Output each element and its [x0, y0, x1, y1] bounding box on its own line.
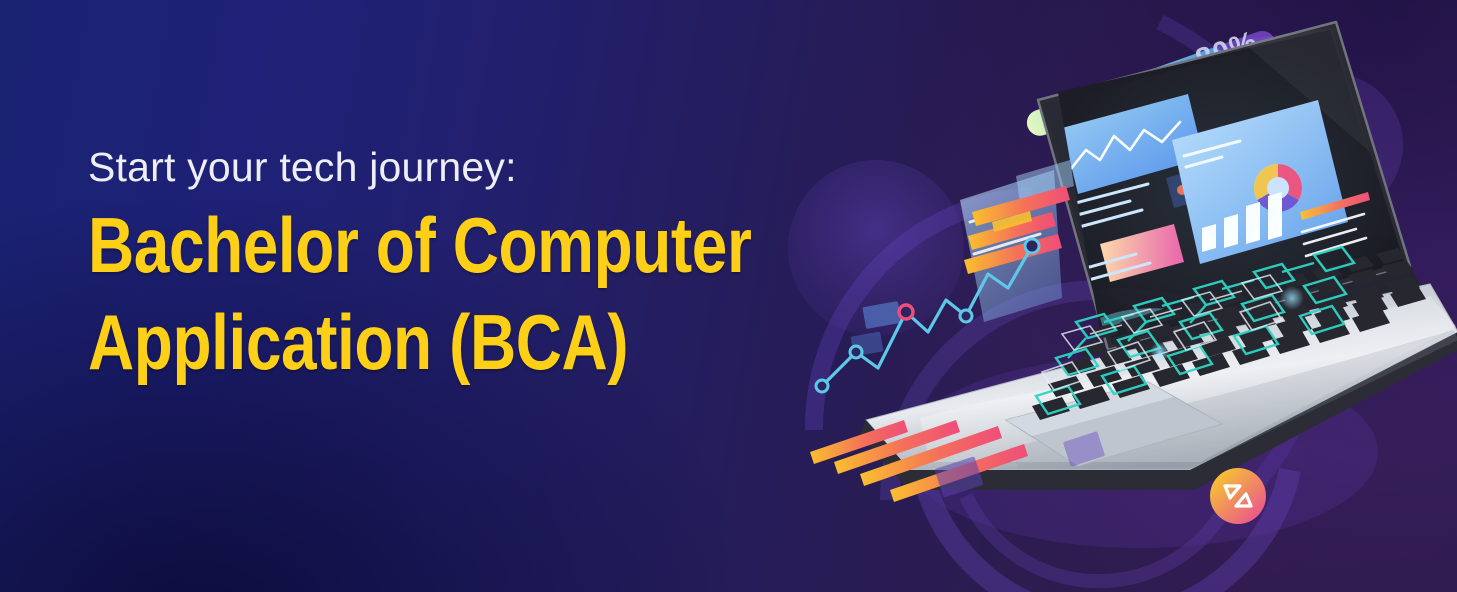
chart-marker-highlight	[899, 305, 913, 319]
headline-line-1: Bachelor of Computer	[88, 205, 662, 286]
laptop-illustration: 80%	[770, 0, 1457, 592]
headline-line-2: Application (BCA)	[88, 302, 662, 383]
banner-kicker: Start your tech journey:	[88, 146, 788, 189]
promo-banner: Start your tech journey: Bachelor of Com…	[0, 0, 1457, 592]
banner-headline: Bachelor of Computer Application (BCA)	[88, 205, 662, 383]
code-cursor-badge	[1210, 468, 1266, 524]
banner-copy: Start your tech journey: Bachelor of Com…	[88, 146, 788, 383]
